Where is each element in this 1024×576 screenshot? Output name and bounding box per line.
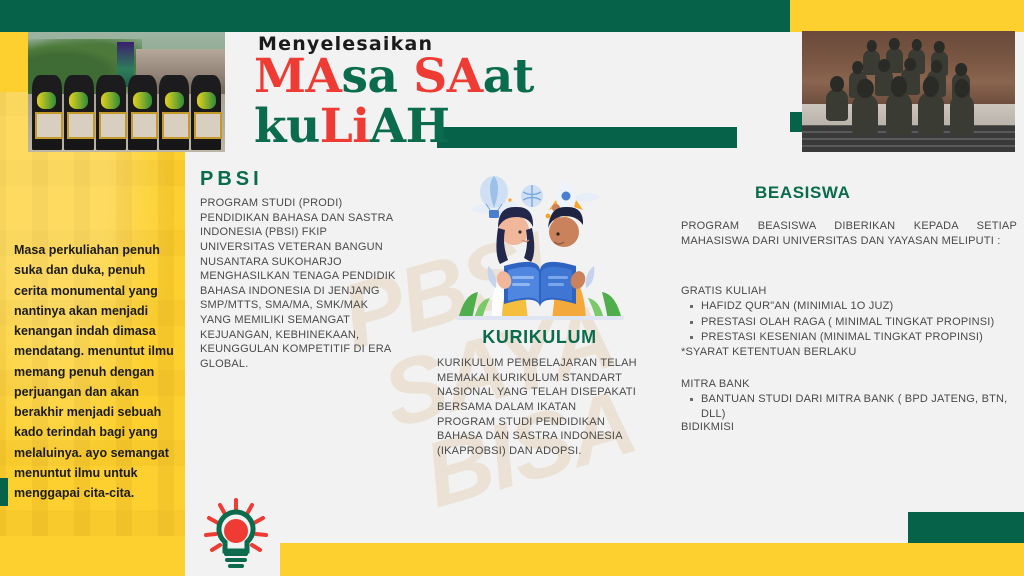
- beasiswa-intro: PROGRAM BEASISWA DIBERIKAN KEPADA SETIAP…: [681, 219, 1017, 248]
- left-green-accent: [0, 478, 8, 506]
- group-person: [852, 94, 878, 135]
- graduate-figure: [32, 75, 62, 149]
- top-yellow-band: [790, 0, 1024, 32]
- bottom-yellow-band: [280, 543, 1024, 576]
- kurikulum-body: KURIKULUM PEMBELAJARAN TELAH MEMAKAI KUR…: [437, 356, 637, 458]
- list-item: PRESTASI KESENIAN (MINIMAL TINGKAT PROPI…: [701, 330, 1024, 345]
- group-person: [886, 92, 912, 135]
- graduation-photo: [28, 32, 225, 152]
- group-person: [918, 92, 944, 135]
- beasiswa-gratis-label: GRATIS KULIAH: [681, 284, 767, 299]
- title-line-2: kuLiAH: [254, 102, 534, 152]
- list-item: PRESTASI OLAH RAGA ( MINIMAL TINGKAT PRO…: [701, 315, 1024, 330]
- graduate-figure: [159, 75, 189, 149]
- bottom-right-green-block: [908, 512, 1024, 543]
- pbsi-body: PROGRAM STUDI (PRODI) PENDIDIKAN BAHASA …: [200, 196, 396, 372]
- beasiswa-syarat-note: *SYARAT KETENTUAN BERLAKU: [681, 345, 857, 360]
- beasiswa-heading: BEASISWA: [755, 183, 850, 203]
- list-item: HAFIDZ QUR"AN (MINIMIAL 1O JUZ): [701, 299, 1024, 314]
- group-person: [826, 89, 848, 122]
- students-reading-book-illustration: [452, 170, 628, 320]
- student-group-photo: [802, 31, 1015, 152]
- beasiswa-mitra-list: BANTUAN STUDI DARI MITRA BANK ( BPD JATE…: [681, 392, 1024, 422]
- title-seg-sa2: SA: [413, 49, 482, 104]
- presentation-slide: PBSI SAYA BISA: [0, 0, 1024, 576]
- pbsi-heading: PBSI: [200, 168, 263, 191]
- graduate-figure: [128, 75, 158, 149]
- idea-lightbulb-icon: [200, 496, 272, 570]
- graduate-figure: [191, 75, 221, 149]
- top-green-band: [0, 0, 790, 32]
- beasiswa-gratis-list: HAFIDZ QUR"AN (MINIMIAL 1O JUZ) PRESTASI…: [681, 299, 1024, 346]
- photo-people: [815, 48, 1002, 145]
- title-seg-ma: MA: [254, 49, 342, 104]
- title-seg-li: Li: [320, 99, 370, 154]
- beasiswa-mitra-label: MITRA BANK: [681, 377, 750, 392]
- graduate-figure: [64, 75, 94, 149]
- slide-title: MAsa SAat kuLiAH: [254, 52, 534, 153]
- title-seg-ah: AH: [370, 99, 450, 154]
- group-person: [950, 94, 974, 135]
- title-seg-at: at: [483, 49, 534, 104]
- title-line-1: MAsa SAat: [254, 52, 534, 102]
- graduate-figure: [96, 75, 126, 149]
- title-seg-sa: sa: [342, 49, 414, 104]
- sidebar-paragraph: Masa perkuliahan penuh suka dan duka, pe…: [14, 240, 174, 503]
- beasiswa-bidikmisi: BIDIKMISI: [681, 420, 734, 435]
- kurikulum-heading: KURIKULUM: [437, 327, 642, 348]
- title-seg-ku: ku: [254, 99, 320, 154]
- photo-graduates-row: [32, 75, 221, 149]
- list-item: BANTUAN STUDI DARI MITRA BANK ( BPD JATE…: [701, 392, 1024, 421]
